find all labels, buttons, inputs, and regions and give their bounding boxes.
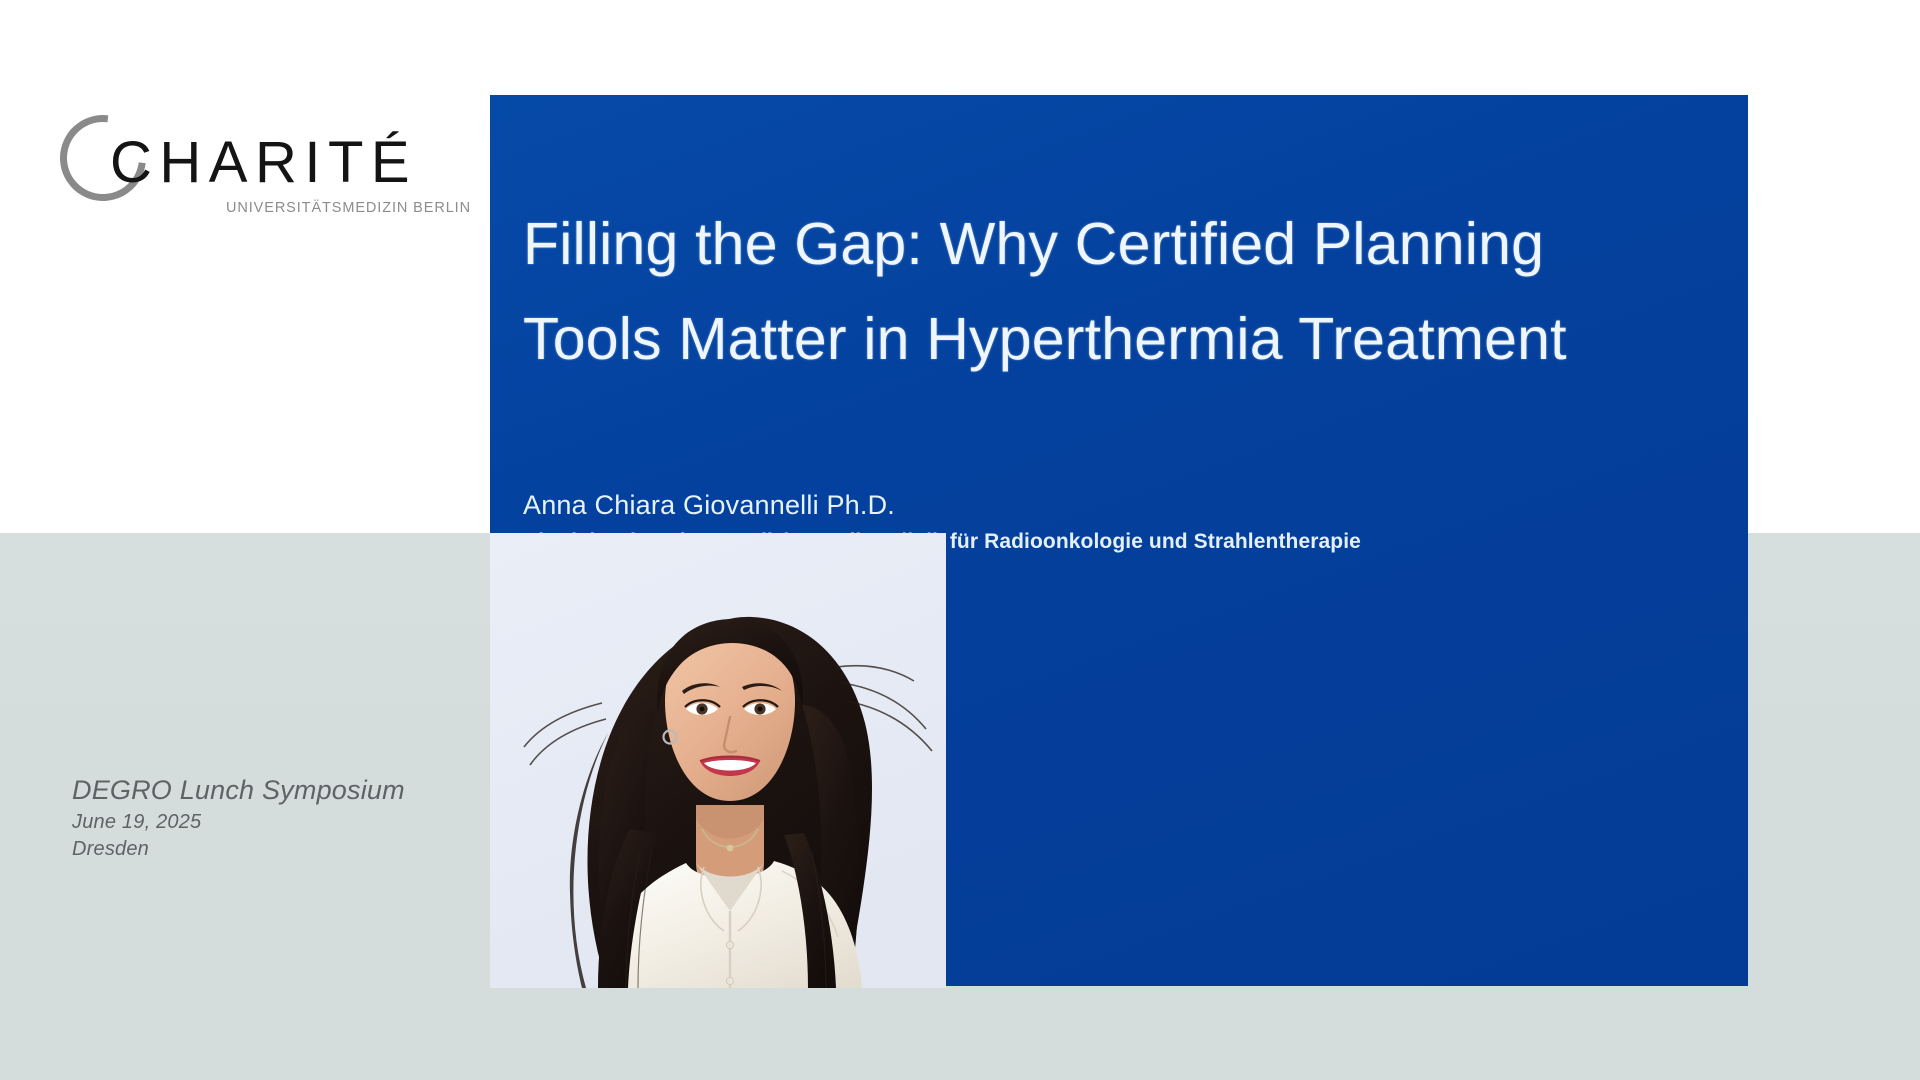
title-text-block: Filling the Gap: Why Certified Planning …: [523, 197, 1713, 387]
author-name: Anna Chiara Giovannelli Ph.D.: [523, 489, 1713, 523]
charite-wordmark: CHARITÉ: [110, 134, 417, 192]
slide-title-line-2: Tools Matter in Hyperthermia Treatment: [523, 292, 1713, 387]
event-info-block: DEGRO Lunch Symposium June 19, 2025 Dres…: [72, 775, 472, 863]
event-location: Dresden: [72, 836, 472, 863]
title-slide: CHARITÉ UNIVERSITÄTSMEDIZIN BERLIN Filli…: [0, 0, 1920, 1080]
event-date: June 19, 2025: [72, 809, 472, 836]
charite-subtitle: UNIVERSITÄTSMEDIZIN BERLIN: [226, 200, 471, 216]
presenter-portrait-photo: [490, 533, 946, 988]
portrait-illustration: [490, 533, 946, 988]
event-name: DEGRO Lunch Symposium: [72, 775, 472, 805]
slide-title-line-1: Filling the Gap: Why Certified Planning: [523, 197, 1713, 292]
charite-logo: CHARITÉ UNIVERSITÄTSMEDIZIN BERLIN: [50, 115, 390, 225]
